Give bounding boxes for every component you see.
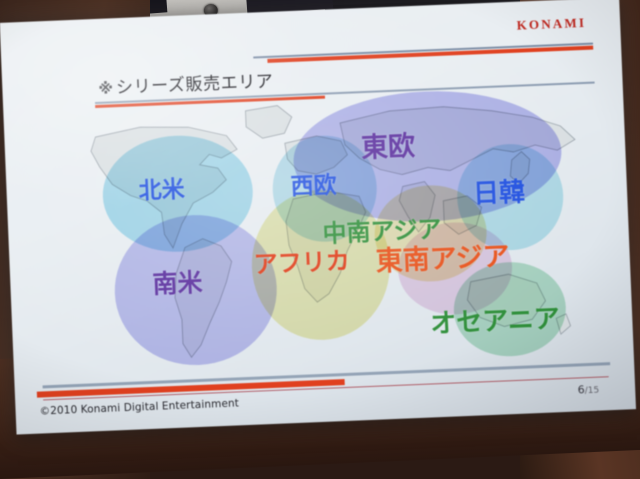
region-label-eastern-europe: 東欧 [360,124,416,165]
konami-logo: KONAMI [516,15,586,34]
region-label-southeast-asia: 東南アジア [375,234,510,278]
projection-screen: KONAMI ※ シリーズ販売エリア [0,0,636,443]
projector-photo: KONAMI ※ シリーズ販売エリア [0,0,640,479]
page-number: 6/15 [577,383,599,397]
region-label-japan-korea: 日韓 [472,172,525,211]
page-title-text: シリーズ販売エリア [115,67,273,98]
region-label-western-europe: 西欧 [290,165,337,201]
region-label-oceania: オセアニア [430,298,561,340]
page-title: ※ シリーズ販売エリア [98,67,274,99]
page-total: 15 [588,386,600,396]
title-mark-icon: ※ [98,79,111,98]
region-label-north-america: 北米 [138,169,185,205]
region-label-south-america: 南米 [152,263,203,301]
copyright-text: ©2010 Konami Digital Entertainment [39,397,239,417]
world-map: 北米南米西欧東欧アフリカ中南アジア東南アジア日韓オセアニア [39,91,605,376]
